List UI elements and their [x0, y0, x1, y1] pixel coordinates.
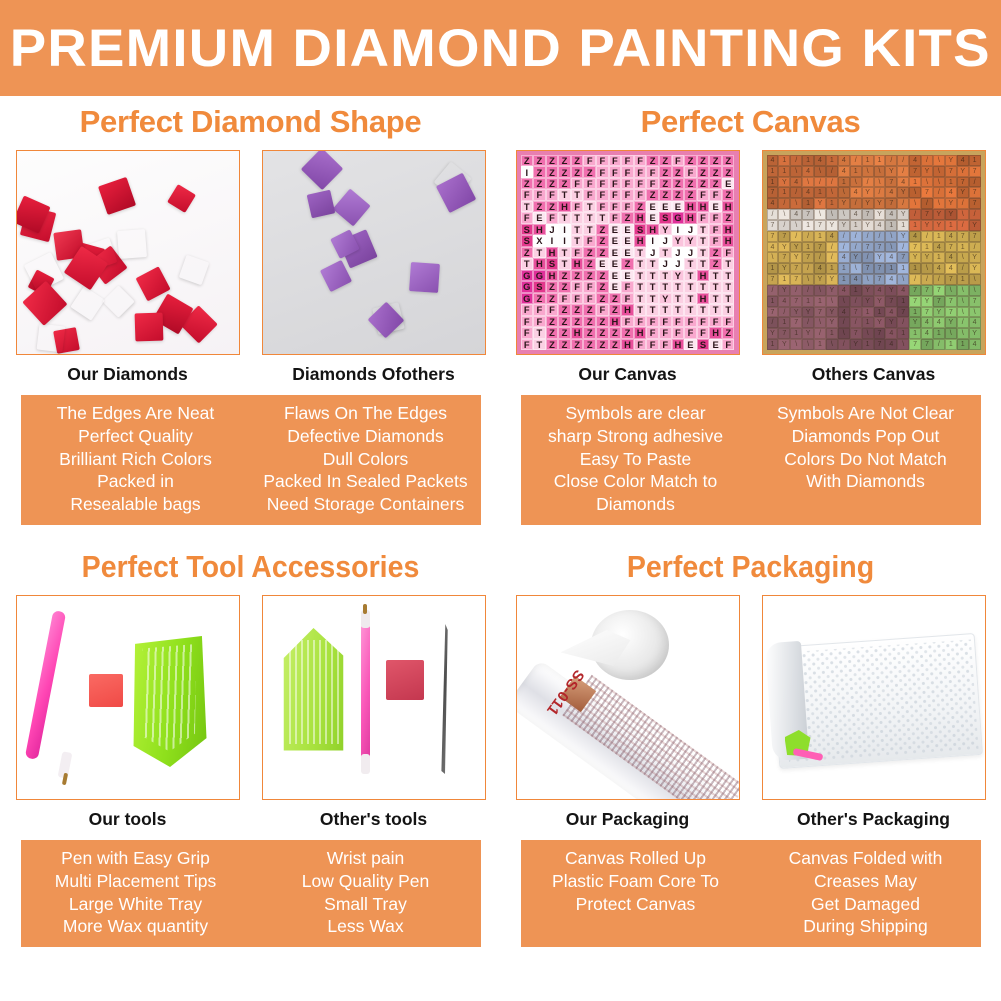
canvas-symbol-cell: F [709, 189, 722, 200]
facts-bar: Pen with Easy GripMulti Placement TipsLa… [21, 840, 481, 947]
canvas-pixel-cell: 7 [969, 198, 981, 209]
fact-line: Large White Tray [25, 893, 247, 916]
canvas-pixel-cell: \ [838, 187, 850, 198]
diamond-bead [36, 324, 65, 353]
canvas-symbol-cell: F [609, 201, 622, 212]
canvas-symbol-cell: F [521, 316, 534, 327]
canvas-pixel-cell: 1 [885, 263, 897, 274]
photo-caption: Our tools [16, 800, 240, 830]
canvas-symbol-cell: S [533, 281, 546, 292]
photo-caption: Other's tools [262, 800, 486, 830]
fact-line: Pen with Easy Grip [25, 847, 247, 870]
canvas-pixel-cell: Y [897, 231, 909, 242]
canvas-pixel-cell: 7 [802, 209, 814, 220]
canvas-pixel-cell: / [850, 242, 862, 253]
canvas-pixel-cell: 4 [945, 252, 957, 263]
canvas-symbol-cell: G [521, 293, 534, 304]
canvas-symbol-cell: F [583, 235, 596, 246]
canvas-pixel-cell: \ [957, 252, 969, 263]
canvas-symbol-cell: T [646, 293, 659, 304]
canvas-pixel-cell: / [933, 339, 945, 350]
canvas-pixel-cell: Y [778, 339, 790, 350]
canvas-symbol-cell: F [583, 189, 596, 200]
canvas-pixel-cell: 1 [933, 231, 945, 242]
canvas-pixel-cell: 1 [838, 177, 850, 188]
compare-cell-ours: ZZZZZFFFFFZZFZZZZIZZZZZFFFFFZZFZZZZZZZFF… [516, 150, 740, 385]
canvas-symbol-cell: T [533, 247, 546, 258]
canvas-pixel-cell: / [921, 274, 933, 285]
canvas-pixel-cell: / [921, 198, 933, 209]
canvas-symbol-cell: Y [684, 235, 697, 246]
canvas-symbol-cell: Z [609, 304, 622, 315]
canvas-symbol-cell: H [621, 339, 634, 350]
canvas-symbol-cell: T [672, 304, 685, 315]
canvas-pixel-cell: Y [826, 220, 838, 231]
canvas-pixel-cell: 1 [850, 220, 862, 231]
canvas-pixel-cell: \ [767, 252, 779, 263]
canvas-symbol-cell: Z [583, 327, 596, 338]
canvas-pixel-cell: 4 [885, 252, 897, 263]
canvas-symbol-cell: I [646, 235, 659, 246]
facts-bar: Symbols are clearsharp Strong adhesiveEa… [521, 395, 981, 525]
diamond-bead [98, 177, 136, 215]
canvas-symbol-cell: T [684, 304, 697, 315]
canvas-pixel-cell: 1 [909, 177, 921, 188]
canvas-pixel-cell: / [802, 317, 814, 328]
canvas-pixel-cell: \ [933, 198, 945, 209]
canvas-symbol-cell: F [558, 293, 571, 304]
fact-line: Get Damaged [755, 893, 977, 916]
canvas-symbol-cell: F [646, 339, 659, 350]
canvas-pixel-cell: / [897, 155, 909, 166]
canvas-symbol-cell: Z [583, 316, 596, 327]
canvas-pixel-cell: 1 [814, 296, 826, 307]
canvas-pixel-cell: 1 [826, 155, 838, 166]
canvas-pixel-cell: Y [790, 252, 802, 263]
canvas-pixel-cell: \ [945, 285, 957, 296]
canvas-pixel-cell: / [790, 231, 802, 242]
canvas-symbol-cell: S [659, 212, 672, 223]
canvas-symbol-cell: H [533, 224, 546, 235]
symbol-canvas-photo: ZZZZZFFFFFZZFZZZZIZZZZZFFFFFZZFZZZZZZZFF… [516, 150, 740, 355]
facts-column-ours: Symbols are clearsharp Strong adhesiveEa… [521, 395, 751, 525]
canvas-symbol-cell: F [634, 178, 647, 189]
canvas-pixel-cell: \ [933, 155, 945, 166]
canvas-symbol-cell: G [672, 212, 685, 223]
canvas-pixel-cell: 4 [838, 285, 850, 296]
canvas-pixel-cell: 7 [790, 263, 802, 274]
canvas-symbol-cell: Z [558, 281, 571, 292]
canvas-pixel-cell: \ [838, 328, 850, 339]
canvas-symbol-cell: F [596, 304, 609, 315]
canvas-pixel-cell: \ [921, 263, 933, 274]
canvas-pixel-cell: 4 [885, 328, 897, 339]
canvas-pixel-cell: \ [850, 177, 862, 188]
canvas-pixel-cell: / [826, 166, 838, 177]
canvas-symbol-cell: E [722, 178, 735, 189]
canvas-symbol-cell: Z [722, 212, 735, 223]
canvas-symbol-cell: Z [659, 189, 672, 200]
canvas-pixel-cell: Y [945, 155, 957, 166]
canvas-pixel-cell: 1 [767, 177, 779, 188]
canvas-symbol-cell: F [609, 166, 622, 177]
canvas-symbol-cell: H [722, 235, 735, 246]
canvas-pixel-cell: \ [957, 307, 969, 318]
section-title: Perfect Canvas [500, 104, 1001, 140]
canvas-symbol-cell: F [684, 327, 697, 338]
canvas-symbol-cell: Z [709, 166, 722, 177]
canvas-symbol-cell: T [571, 224, 584, 235]
canvas-pixel-cell: / [897, 166, 909, 177]
fact-line: Canvas Folded with [755, 847, 977, 870]
canvas-pixel-cell: / [909, 209, 921, 220]
canvas-symbol-cell: Y [659, 224, 672, 235]
canvas-symbol-cell: F [621, 316, 634, 327]
canvas-symbol-cell: F [697, 189, 710, 200]
canvas-symbol-cell: Z [546, 166, 559, 177]
pen-needle-icon [363, 604, 367, 614]
canvas-symbol-cell: T [558, 258, 571, 269]
canvas-symbol-cell: F [533, 304, 546, 315]
canvas-symbol-cell: T [709, 270, 722, 281]
canvas-symbol-cell: F [571, 247, 584, 258]
canvas-pixel-cell: 7 [790, 317, 802, 328]
canvas-symbol-cell: T [709, 304, 722, 315]
canvas-pixel-cell: 1 [897, 220, 909, 231]
canvas-pixel-cell: Y [897, 187, 909, 198]
canvas-symbol-cell: E [621, 235, 634, 246]
canvas-pixel-cell: / [850, 231, 862, 242]
canvas-pixel-cell: \ [957, 209, 969, 220]
canvas-symbol-cell: Z [697, 178, 710, 189]
fact-line: Flaws On The Edges [255, 402, 477, 425]
canvas-symbol-cell: T [697, 258, 710, 269]
canvas-pixel-cell: \ [790, 339, 802, 350]
canvas-symbol-cell: Z [533, 178, 546, 189]
canvas-symbol-cell: J [546, 224, 559, 235]
section-canvas: Perfect Canvas ZZZZZFFFFFZZFZZZZIZZZZZFF… [500, 104, 1001, 525]
canvas-symbol-cell: Z [596, 281, 609, 292]
canvas-pixel-cell: 4 [850, 209, 862, 220]
canvas-pixel-cell: 4 [826, 231, 838, 242]
canvas-pixel-cell: 7 [767, 187, 779, 198]
photo-caption: Our Canvas [516, 355, 740, 385]
canvas-pixel-cell: / [921, 155, 933, 166]
canvas-symbol-cell: Z [596, 270, 609, 281]
canvas-pixel-cell: 1 [778, 317, 790, 328]
canvas-symbol-cell: Y [672, 270, 685, 281]
fact-line: Resealable bags [25, 493, 247, 516]
canvas-pixel-cell: 7 [969, 296, 981, 307]
canvas-pixel-cell: 7 [945, 242, 957, 253]
canvas-symbol-cell: F [546, 212, 559, 223]
canvas-pixel-cell: \ [790, 220, 802, 231]
canvas-pixel-cell: \ [826, 339, 838, 350]
canvas-pixel-cell: \ [969, 307, 981, 318]
canvas-pixel-cell: 4 [767, 155, 779, 166]
section-packaging: Perfect Packaging SS-011 Our Packaging [500, 549, 1001, 947]
wax-square-icon [386, 660, 424, 700]
canvas-symbol-cell: Z [621, 327, 634, 338]
canvas-pixel-cell: Y [838, 220, 850, 231]
canvas-symbol-cell: Z [571, 339, 584, 350]
canvas-symbol-cell: F [722, 339, 735, 350]
canvas-symbol-cell: X [533, 235, 546, 246]
canvas-symbol-cell: Y [672, 235, 685, 246]
canvas-symbol-cell: J [659, 235, 672, 246]
canvas-symbol-cell: H [609, 316, 622, 327]
canvas-pixel-cell: 1 [814, 339, 826, 350]
canvas-pixel-cell: 7 [909, 242, 921, 253]
canvas-pixel-cell: Y [921, 252, 933, 263]
fact-line: Symbols Are Not Clear [755, 402, 977, 425]
canvas-symbol-cell: Z [596, 327, 609, 338]
small-tray-ridges-icon [289, 640, 339, 744]
canvas-pixel-cell: 1 [862, 339, 874, 350]
canvas-symbol-cell: F [521, 189, 534, 200]
canvas-pixel-cell: 7 [862, 263, 874, 274]
fact-line: Canvas Rolled Up [525, 847, 747, 870]
canvas-symbol-cell: T [722, 270, 735, 281]
fact-line: Defective Diamonds [255, 425, 477, 448]
canvas-pixel-cell: \ [814, 285, 826, 296]
canvas-symbol-cell: Z [546, 327, 559, 338]
canvas-symbol-cell: Z [546, 178, 559, 189]
photo-caption: Other's Packaging [762, 800, 986, 830]
canvas-symbol-cell: Z [521, 247, 534, 258]
canvas-symbol-cell: F [583, 281, 596, 292]
canvas-symbol-cell: F [596, 201, 609, 212]
fact-line: Low Quality Pen [255, 870, 477, 893]
canvas-symbol-cell: Z [558, 166, 571, 177]
canvas-pixel-cell: / [826, 177, 838, 188]
canvas-symbol-cell: F [596, 166, 609, 177]
canvas-pixel-cell: Y [957, 166, 969, 177]
canvas-pixel-cell: 7 [885, 198, 897, 209]
canvas-pixel-cell: Y [945, 209, 957, 220]
thin-pink-pen-icon [361, 624, 370, 759]
canvas-symbol-cell: T [659, 304, 672, 315]
canvas-symbol-cell: T [722, 281, 735, 292]
canvas-pixel-cell: Y [862, 296, 874, 307]
canvas-pixel-cell: / [767, 209, 779, 220]
canvas-pixel-cell: Y [885, 317, 897, 328]
canvas-symbol-cell: Z [558, 316, 571, 327]
canvas-pixel-cell: 4 [850, 274, 862, 285]
canvas-symbol-cell: F [709, 224, 722, 235]
canvas-symbol-cell: Z [697, 155, 710, 166]
canvas-pixel-cell: 7 [945, 166, 957, 177]
facts-bar: Canvas Rolled UpPlastic Foam Core ToProt… [521, 840, 981, 947]
canvas-symbol-cell: Z [646, 155, 659, 166]
canvas-pixel-cell: 4 [885, 209, 897, 220]
canvas-symbol-cell: H [672, 339, 685, 350]
canvas-pixel-cell: 7 [969, 231, 981, 242]
canvas-pixel-cell: 1 [945, 177, 957, 188]
canvas-pixel-cell: 7 [862, 242, 874, 253]
canvas-pixel-cell: 4 [969, 317, 981, 328]
canvas-pixel-cell: 7 [909, 166, 921, 177]
canvas-symbol-cell: T [634, 247, 647, 258]
canvas-pixel-cell: \ [909, 198, 921, 209]
canvas-symbol-cell: Z [571, 155, 584, 166]
canvas-symbol-cell: E [646, 212, 659, 223]
canvas-symbol-cell: F [546, 304, 559, 315]
canvas-pixel-cell: 1 [802, 198, 814, 209]
fact-line: Brilliant Rich Colors [25, 448, 247, 471]
fact-line: Small Tray [255, 893, 477, 916]
canvas-pixel-cell: 7 [778, 231, 790, 242]
canvas-symbol-cell: F [596, 178, 609, 189]
canvas-symbol-cell: J [684, 247, 697, 258]
canvas-pixel-cell: 7 [767, 307, 779, 318]
canvas-symbol-cell: H [697, 270, 710, 281]
canvas-pixel-cell: 7 [921, 187, 933, 198]
canvas-pixel-cell: 4 [885, 307, 897, 318]
canvas-symbol-cell: Z [634, 201, 647, 212]
canvas-pixel-cell: \ [802, 177, 814, 188]
canvas-symbol-cell: Z [709, 258, 722, 269]
canvas-symbol-cell: F [609, 155, 622, 166]
canvas-symbol-cell: T [583, 201, 596, 212]
canvas-pixel-cell: 1 [874, 307, 886, 318]
canvas-pixel-cell: 7 [814, 307, 826, 318]
fact-line: Plastic Foam Core To [525, 870, 747, 893]
fact-line: Wrist pain [255, 847, 477, 870]
tube-packaging-photo: SS-011 [516, 595, 740, 800]
canvas-symbol-cell: H [634, 212, 647, 223]
canvas-pixel-cell: 1 [778, 166, 790, 177]
canvas-symbol-cell: Z [659, 178, 672, 189]
canvas-pixel-cell: 7 [897, 307, 909, 318]
canvas-symbol-cell: Z [596, 224, 609, 235]
canvas-pixel-cell: / [814, 328, 826, 339]
canvas-symbol-cell: F [583, 178, 596, 189]
canvas-pixel-cell: 7 [767, 220, 779, 231]
canvas-pixel-cell: \ [802, 274, 814, 285]
canvas-symbol-cell: Z [546, 155, 559, 166]
canvas-symbol-cell: Z [596, 247, 609, 258]
canvas-pixel-cell: \ [802, 339, 814, 350]
canvas-pixel-cell: Y [826, 307, 838, 318]
canvas-pixel-cell: 1 [874, 155, 886, 166]
section-title: Perfect Diamond Shape [0, 104, 501, 140]
canvas-pixel-cell: 1 [790, 328, 802, 339]
canvas-symbol-cell: T [646, 281, 659, 292]
canvas-pixel-cell: \ [921, 177, 933, 188]
canvas-symbol-cell: Z [533, 293, 546, 304]
canvas-pixel-cell: 7 [767, 231, 779, 242]
canvas-symbol-cell: Z [709, 178, 722, 189]
canvas-pixel-cell: Y [945, 198, 957, 209]
canvas-pixel-cell: / [874, 231, 886, 242]
canvas-pixel-cell: 7 [802, 252, 814, 263]
canvas-symbol-cell: E [646, 201, 659, 212]
canvas-pixel-cell: 7 [909, 296, 921, 307]
canvas-symbol-cell: Z [646, 189, 659, 200]
canvas-pixel-cell: \ [790, 166, 802, 177]
canvas-pixel-cell: Y [909, 252, 921, 263]
canvas-symbol-cell: T [634, 258, 647, 269]
canvas-symbol-cell: F [621, 189, 634, 200]
canvas-pixel-cell: 4 [957, 155, 969, 166]
compare-cell-ours: SS-011 Our Packaging [516, 595, 740, 830]
canvas-symbol-cell: F [621, 281, 634, 292]
canvas-pixel-cell: Y [778, 177, 790, 188]
canvas-symbol-cell: Z [596, 339, 609, 350]
canvas-pixel-cell: 7 [874, 274, 886, 285]
section-diamond-shape: Perfect Diamond Shape Our Diamonds Diamo… [0, 104, 501, 525]
canvas-pixel-cell: 1 [885, 220, 897, 231]
canvas-pixel-cell: Y [957, 187, 969, 198]
canvas-pixel-cell: / [969, 242, 981, 253]
canvas-symbol-cell: Z [533, 155, 546, 166]
canvas-pixel-cell: 4 [838, 307, 850, 318]
canvas-symbol-cell: H [722, 201, 735, 212]
diamond-bead [301, 150, 343, 190]
fact-line: The Edges Are Neat [25, 402, 247, 425]
canvas-symbol-cell: E [621, 270, 634, 281]
canvas-symbol-cell: F [697, 212, 710, 223]
canvas-symbol-cell: T [659, 270, 672, 281]
canvas-pixel-cell: 7 [921, 339, 933, 350]
canvas-pixel-cell: 1 [838, 263, 850, 274]
canvas-pixel-cell: \ [814, 166, 826, 177]
canvas-pixel-cell: / [969, 209, 981, 220]
canvas-pixel-cell: 1 [862, 307, 874, 318]
canvas-pixel-cell: / [969, 177, 981, 188]
canvas-pixel-cell: / [826, 242, 838, 253]
fact-line: Creases May [755, 870, 977, 893]
canvas-symbol-cell: T [596, 212, 609, 223]
canvas-pixel-cell: \ [897, 274, 909, 285]
canvas-symbol-cell: F [646, 178, 659, 189]
canvas-pixel-cell: 7 [862, 209, 874, 220]
canvas-pixel-cell: 1 [909, 328, 921, 339]
canvas-pixel-cell: 4 [767, 198, 779, 209]
canvas-symbol-cell: F [634, 166, 647, 177]
canvas-pixel-cell: 7 [874, 242, 886, 253]
canvas-pixel-cell: Y [826, 317, 838, 328]
canvas-pixel-cell: 7 [897, 252, 909, 263]
canvas-symbol-cell: T [634, 293, 647, 304]
canvas-symbol-cell: Z [583, 166, 596, 177]
canvas-pixel-cell: \ [838, 209, 850, 220]
canvas-symbol-cell: H [634, 235, 647, 246]
canvas-pixel-cell: 7 [969, 187, 981, 198]
canvas-pixel-cell: 4 [909, 155, 921, 166]
fact-line: Perfect Quality [25, 425, 247, 448]
canvas-pixel-cell: \ [945, 328, 957, 339]
canvas-pixel-cell: 4 [874, 285, 886, 296]
canvas-symbol-cell: T [722, 304, 735, 315]
canvas-pixel-cell: 1 [850, 166, 862, 177]
canvas-symbol-cell: Z [609, 293, 622, 304]
photo-caption: Our Packaging [516, 800, 740, 830]
canvas-pixel-cell: \ [826, 296, 838, 307]
canvas-pixel-cell: \ [957, 285, 969, 296]
canvas-pixel-cell: 7 [957, 177, 969, 188]
diamond-bead [102, 285, 135, 318]
canvas-pixel-cell: 1 [909, 307, 921, 318]
compare-cell-others: Other's Packaging [762, 595, 986, 830]
canvas-pixel-cell: 4 [778, 296, 790, 307]
canvas-pixel-cell: Y [885, 285, 897, 296]
canvas-symbol-cell: T [571, 212, 584, 223]
canvas-pixel-cell: 1 [897, 328, 909, 339]
canvas-pixel-cell: 7 [957, 231, 969, 242]
canvas-pixel-cell: / [933, 187, 945, 198]
